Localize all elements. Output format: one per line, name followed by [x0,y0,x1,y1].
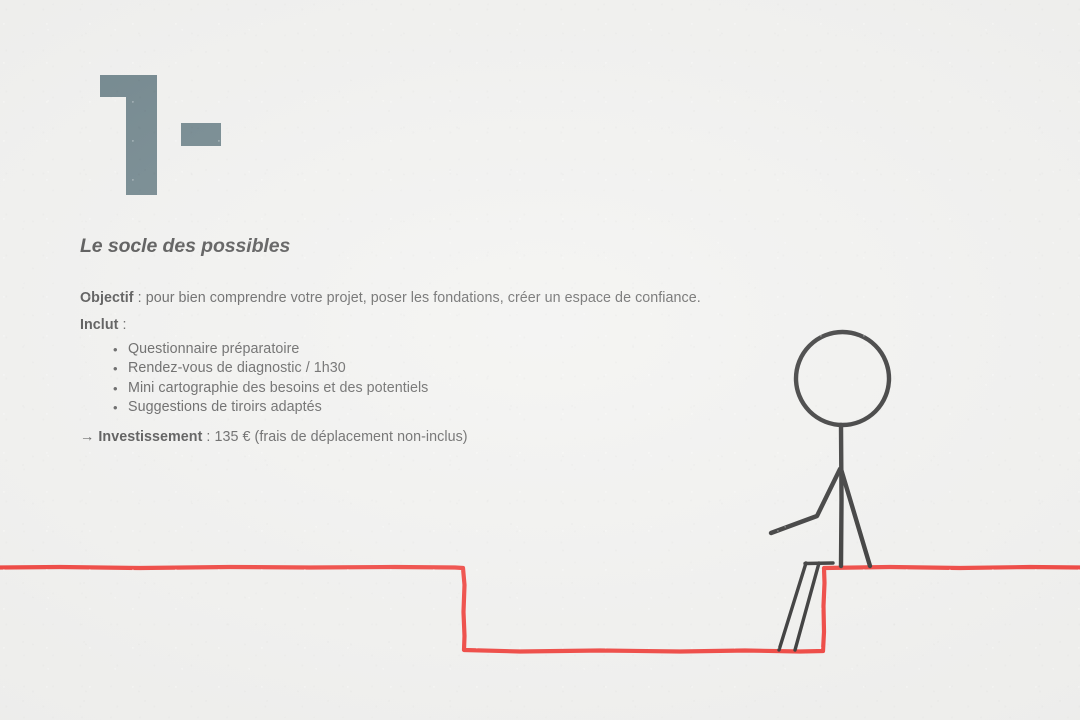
investment-separator: : [202,429,214,445]
step-number-block [80,58,340,193]
content-column: Le socle des possibles Objectif : pour b… [80,236,840,453]
list-item: Suggestions de tiroirs adaptés [80,398,840,417]
ladder-rail-right [795,563,819,650]
ladder-rail-left [779,563,806,650]
arrow-right-icon: → [80,429,94,445]
objective-paragraph: Objectif : pour bien comprendre votre pr… [80,287,840,309]
includes-list: Questionnaire préparatoire Rendez-vous d… [80,340,840,418]
ground-line-red [0,567,1080,652]
numeral-stem [126,75,157,195]
list-item: Questionnaire préparatoire [80,340,840,359]
ladder-top-edge [805,563,833,564]
investment-note: (frais de déplacement non-inclus) [255,429,468,445]
objective-label: Objectif [80,290,134,306]
objective-separator: : [134,290,146,306]
list-item: Mini cartographie des besoins et des pot… [80,379,840,398]
figure-torso-and-leg [841,425,842,566]
step-separator-dash [181,123,221,146]
list-item: Rendez-vous de diagnostic / 1h30 [80,359,840,378]
investment-amount: 135 € [214,429,250,445]
page-title: Le socle des possibles [80,236,840,257]
figure-arm [771,469,840,533]
figure-back-leg [841,469,870,566]
investment-line: → Investissement : 135 € (frais de dépla… [80,426,840,448]
includes-label: Inclut [80,317,118,333]
includes-separator: : [118,317,126,333]
includes-heading: Inclut : [80,314,840,336]
objective-text: pour bien comprendre votre projet, poser… [146,290,701,306]
investment-label: Investissement [98,429,202,445]
